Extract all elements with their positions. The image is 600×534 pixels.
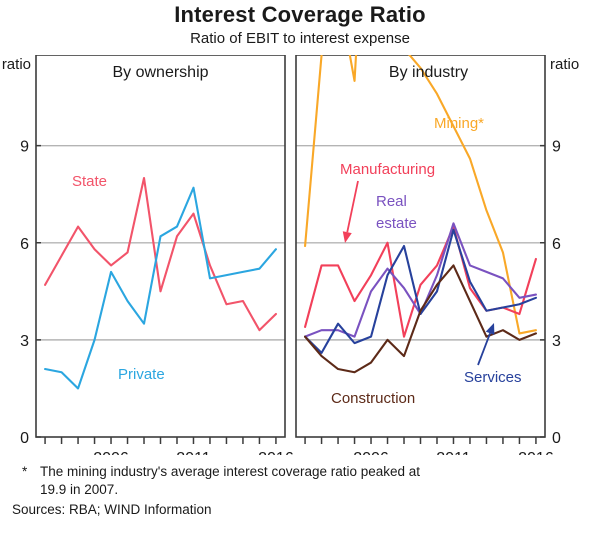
chart-generated-layer: 00336699200620112016200620112016ratiorat… — [2, 55, 579, 455]
chart-canvas: 00336699200620112016200620112016ratiorat… — [0, 55, 600, 455]
xtick-label[interactable]: 2006 — [353, 450, 389, 455]
axis-unit-left[interactable]: ratio — [2, 56, 31, 73]
series-label-services[interactable]: Services — [464, 369, 522, 386]
ytick-label-right[interactable]: 0 — [552, 430, 561, 447]
manufacturing-annotation-arrow-head[interactable] — [343, 231, 352, 243]
xtick-label[interactable]: 2016 — [518, 450, 554, 455]
sources-text: Sources: RBA; WIND Information — [12, 502, 212, 517]
xtick-label[interactable]: 2006 — [93, 450, 129, 455]
axis-unit-right[interactable]: ratio — [550, 56, 579, 73]
series-line-real-estate[interactable] — [305, 223, 536, 336]
series-label-real-estate-line2[interactable]: estate — [376, 215, 417, 232]
ytick-label-left[interactable]: 0 — [20, 430, 29, 447]
series-label-real-estate-line1[interactable]: Real — [376, 193, 407, 210]
ytick-label-right[interactable]: 6 — [552, 236, 561, 253]
sources-row: Sources: RBA; WIND Information — [0, 501, 600, 519]
xtick-label[interactable]: 2016 — [258, 450, 294, 455]
footnote-marker: * — [22, 463, 27, 481]
chart-page: Interest Coverage Ratio Ratio of EBIT to… — [0, 0, 600, 534]
chart-svg: 00336699200620112016200620112016ratiorat… — [0, 55, 600, 455]
series-line-state[interactable] — [45, 178, 276, 330]
ytick-label-left[interactable]: 9 — [20, 139, 29, 156]
ytick-label-right[interactable]: 3 — [552, 333, 561, 350]
series-line-construction[interactable] — [305, 265, 536, 372]
panel-title-right[interactable]: By industry — [389, 64, 468, 81]
ytick-label-right[interactable]: 9 — [552, 139, 561, 156]
manufacturing-annotation-arrow-shaft[interactable] — [347, 181, 358, 232]
series-label-construction[interactable]: Construction — [331, 390, 415, 407]
series-label-state[interactable]: State — [72, 173, 107, 190]
series-label-mining[interactable]: Mining* — [434, 115, 484, 132]
series-label-private[interactable]: Private — [118, 366, 165, 383]
series-line-mining[interactable] — [305, 55, 536, 333]
footnote-line-2-row: 19.9 in 2007. — [0, 481, 600, 499]
series-label-manufacturing[interactable]: Manufacturing — [340, 161, 435, 178]
xtick-label[interactable]: 2011 — [436, 450, 471, 455]
page-title: Interest Coverage Ratio — [0, 2, 600, 28]
panel-title-left[interactable]: By ownership — [112, 64, 208, 81]
page-subtitle: Ratio of EBIT to interest expense — [0, 30, 600, 47]
footnotes: * The mining industry's average interest… — [0, 463, 600, 519]
ytick-label-left[interactable]: 3 — [20, 333, 29, 350]
services-annotation-arrow-shaft[interactable] — [478, 333, 490, 365]
footnote-line-1: The mining industry's average interest c… — [40, 464, 420, 479]
xtick-label[interactable]: 2011 — [176, 450, 211, 455]
ytick-label-left[interactable]: 6 — [20, 236, 29, 253]
services-annotation-arrow-head[interactable] — [486, 323, 495, 335]
footnote-line-2: 19.9 in 2007. — [40, 482, 118, 497]
footnote-row: * The mining industry's average interest… — [0, 463, 600, 481]
